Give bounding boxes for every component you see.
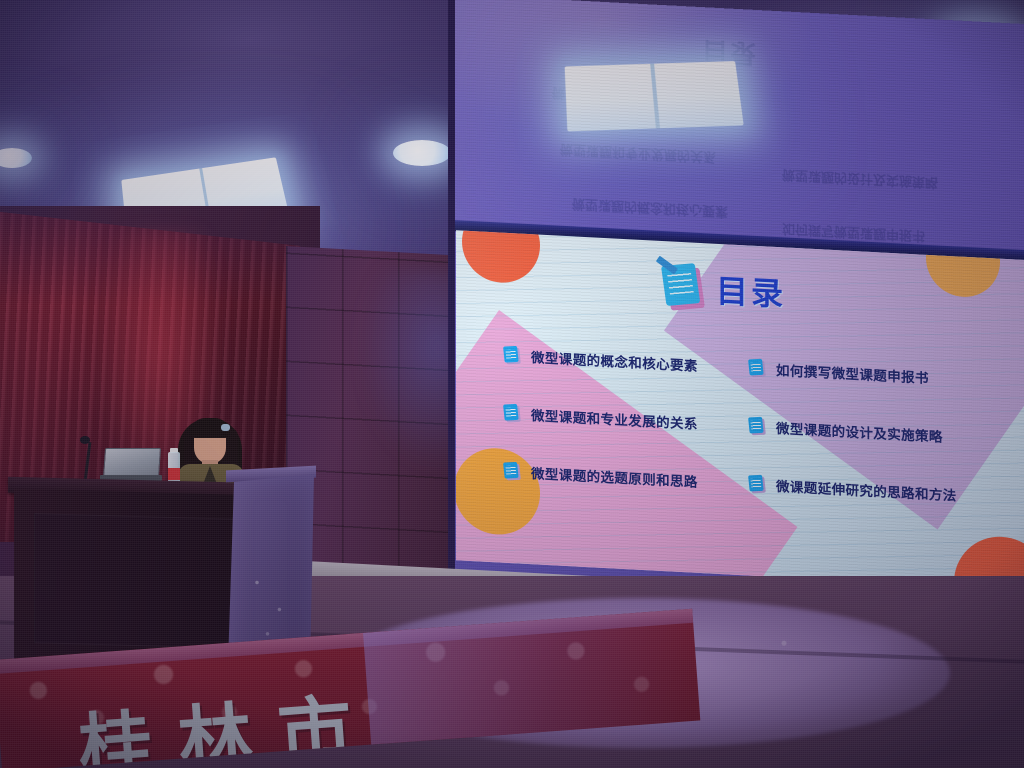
clipboard-icon: [748, 358, 767, 378]
slide-title: 目录: [716, 266, 786, 316]
reflection-line-1: 微型课题的概念和核心要素: [572, 195, 728, 222]
clipboard-icon: [748, 474, 767, 494]
clipboard-icon: [503, 345, 522, 365]
table-of-contents: 微型课题的概念和核心要素 如何撰写微型课题申报书 微型课题和专业发展的关系: [456, 342, 1024, 508]
toc-item-label: 微型课题和专业发展的关系: [531, 404, 698, 433]
slide-content: 目录 微型课题的概念和核心要素 如何撰写微型课题申报书: [456, 230, 1024, 590]
presentation-hall-photo: 微型课题的概念和核心要素 如何撰写微型课题申报书 微型课题和专业发展的关系 微型…: [0, 0, 1024, 768]
slide-canvas: 目录 微型课题的概念和核心要素 如何撰写微型课题申报书: [456, 230, 1024, 590]
toc-item-label: 微型课题的概念和核心要素: [531, 346, 698, 375]
clipboard-icon: [748, 416, 767, 436]
bottle-label: [168, 468, 180, 480]
toc-item-label: 微型课题的设计及实施策略: [776, 417, 943, 446]
toc-item-5[interactable]: 微型课题的选题原则和思路: [504, 461, 749, 494]
toc-item-2[interactable]: 如何撰写微型课题申报书: [749, 358, 994, 391]
slide-title-group: 目录: [664, 263, 786, 315]
toc-item-4[interactable]: 微型课题的设计及实施策略: [749, 416, 994, 449]
toc-item-1[interactable]: 微型课题的概念和核心要素: [504, 345, 749, 378]
clipboard-icon: [503, 461, 522, 481]
panel-light-center: [565, 61, 744, 131]
reflection-line-3: 微型课题和专业发展的关系: [560, 141, 716, 168]
toc-item-6[interactable]: 微课题延伸研究的思路和方法: [749, 474, 994, 507]
led-screen-upper-reflection: 微型课题的概念和核心要素 如何撰写微型课题申报书 微型课题和专业发展的关系 微型…: [452, 0, 1024, 256]
clipboard-icon: [503, 403, 522, 423]
led-screen: 微型课题的概念和核心要素 如何撰写微型课题申报书 微型课题和专业发展的关系 微型…: [452, 0, 1024, 610]
toc-item-3[interactable]: 微型课题和专业发展的关系: [504, 403, 749, 436]
toc-item-label: 如何撰写微型课题申报书: [776, 359, 929, 387]
clipboard-icon: [661, 262, 709, 312]
dome-light-center: [393, 140, 451, 166]
laptop[interactable]: [100, 448, 160, 482]
lectern-speckles: [236, 560, 306, 650]
panel-light-center-divider: [650, 64, 660, 129]
toc-item-label: 微课题延伸研究的思路和方法: [776, 475, 957, 504]
toc-item-label: 微型课题的选题原则和思路: [531, 462, 698, 491]
reflection-line-4: 微型课题的设计及实施策略: [782, 166, 938, 193]
hair-clip: [221, 424, 230, 431]
podium-front-panel: [34, 513, 242, 649]
laptop-screen: [103, 448, 161, 478]
microphone-head: [80, 436, 90, 444]
